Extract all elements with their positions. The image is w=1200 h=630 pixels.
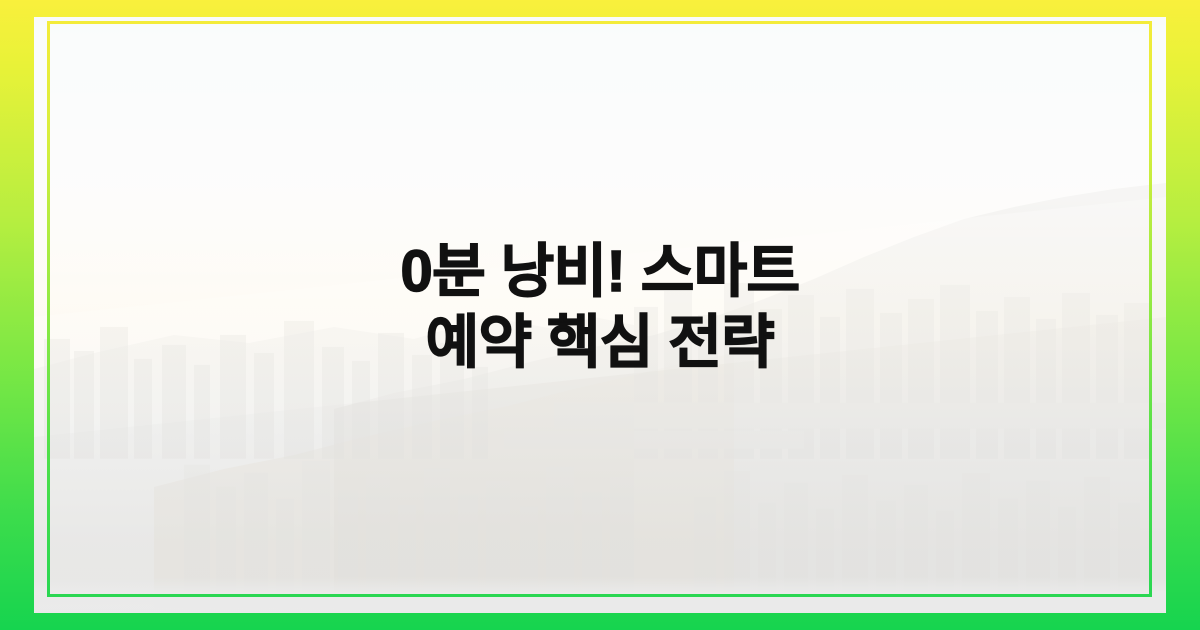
thumbnail-canvas: 0분 낭비! 스마트 예약 핵심 전략 (0, 0, 1200, 630)
headline-container: 0분 낭비! 스마트 예약 핵심 전략 (0, 0, 1200, 630)
page-title: 0분 낭비! 스마트 예약 핵심 전략 (401, 237, 800, 379)
